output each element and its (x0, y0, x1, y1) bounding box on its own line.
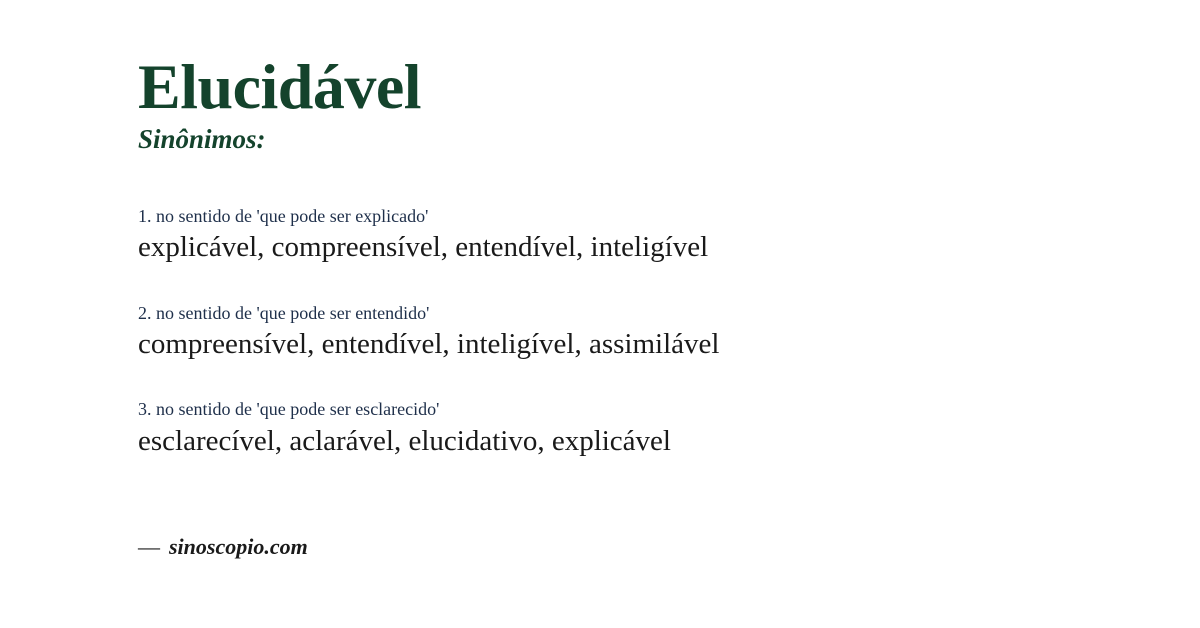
source-label: sinoscopio.com (169, 534, 308, 560)
card-content: Elucidável Sinônimos: 1. no sentido de '… (138, 54, 1160, 459)
attribution: — sinoscopio.com (138, 534, 308, 560)
senses-list: 1. no sentido de 'que pode ser explicado… (138, 205, 1160, 459)
em-dash-glyph: — (138, 534, 160, 560)
sense-label: 2. no sentido de 'que pode ser entendido… (138, 302, 1160, 325)
synonyms-line: compreensível, entendível, inteligível, … (138, 326, 1160, 362)
sense-block: 1. no sentido de 'que pode ser explicado… (138, 205, 1160, 266)
sense-label: 3. no sentido de 'que pode ser esclareci… (138, 398, 1160, 421)
synonyms-line: explicável, compreensível, entendível, i… (138, 229, 1160, 265)
section-subtitle: Sinônimos: (138, 123, 1160, 155)
sense-block: 2. no sentido de 'que pode ser entendido… (138, 302, 1160, 363)
sense-label: 1. no sentido de 'que pode ser explicado… (138, 205, 1160, 228)
thesaurus-card: Elucidável Sinônimos: 1. no sentido de '… (0, 0, 1200, 628)
page-title: Elucidável (138, 54, 1160, 121)
sense-block: 3. no sentido de 'que pode ser esclareci… (138, 398, 1160, 459)
synonyms-line: esclarecível, aclarável, elucidativo, ex… (138, 423, 1160, 459)
